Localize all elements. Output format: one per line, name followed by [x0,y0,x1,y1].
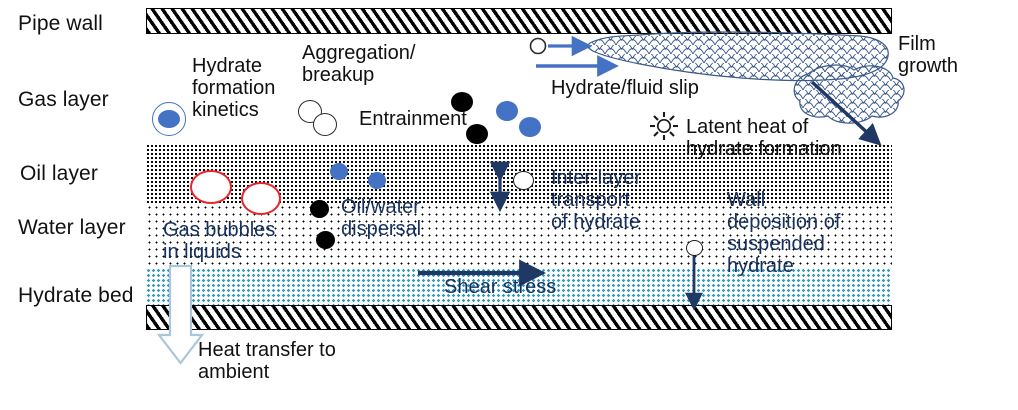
axis-label-pipe-wall: Pipe wall [18,12,103,36]
label-entrainment: Entrainment [359,108,467,130]
label-wall-deposition: Wall deposition of suspended hydrate [727,189,840,277]
axis-label-gas-layer: Gas layer [18,88,109,112]
oil-layer-particle-1 [330,163,348,180]
gas-bubble-1 [190,170,232,204]
label-hydrate-fluid-slip: Hydrate/fluid slip [551,77,699,99]
label-heat-transfer: Heat transfer to ambient [198,339,336,383]
pipe-wall-bottom [146,305,892,330]
hydrate-cloud-shape [794,65,904,123]
label-latent-heat: Latent heat of hydrate formation [686,116,842,160]
entrainment-particle-4 [519,117,541,137]
label-inter-layer-transport: Inter-layer transport of hydrate [551,167,641,233]
axis-label-oil-layer: Oil layer [20,162,98,186]
pipe-wall-top [146,8,892,34]
hydrate-flow-diagram: Pipe wall Gas layer Oil layer Water laye… [0,0,1018,410]
inter-layer-particle [513,171,534,190]
label-shear-stress: Shear stress [444,276,556,298]
aggregation-circle-b [313,113,337,136]
label-aggregation-breakup: Aggregation/ breakup [302,42,415,86]
label-film-growth: Film growth [898,33,958,77]
hydrate-kinetics-icon [152,102,186,136]
axis-label-hydrate-bed: Hydrate bed [18,284,134,308]
label-gas-bubbles: Gas bubbles in liquids [163,219,275,263]
dispersal-particle-1 [310,200,329,218]
label-oil-water-dispersal: Oil/water dispersal [341,196,421,240]
wall-deposition-particle [686,240,703,256]
gas-bubble-2 [241,182,281,215]
slip-particle-icon [531,39,546,54]
sun-burst-icon [650,112,678,140]
hydrate-film-shape [588,32,888,80]
entrainment-particle-2 [466,124,488,144]
entrainment-particle-3 [496,101,518,121]
axis-label-water-layer: Water layer [18,216,126,240]
label-hydrate-formation-kinetics: Hydrate formation kinetics [192,55,275,121]
oil-layer-particle-2 [368,172,386,189]
dispersal-particle-2 [316,231,335,249]
